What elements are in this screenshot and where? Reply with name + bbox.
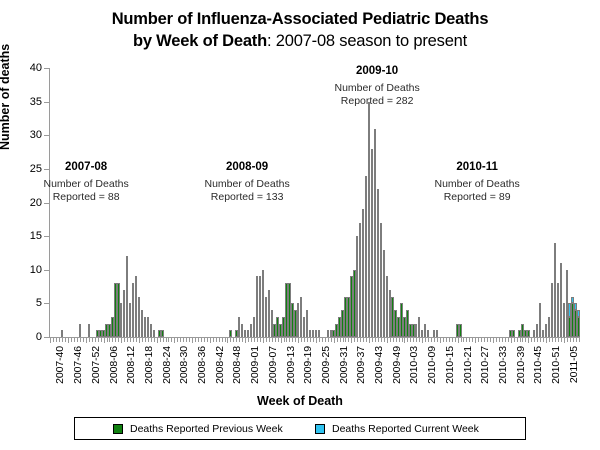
x-axis-tick-mark [219, 338, 220, 342]
x-axis-tick-mark [517, 338, 518, 342]
bar-segment-previous-week [88, 324, 90, 337]
x-axis-tick-mark [239, 338, 240, 342]
x-axis-tick-mark [422, 338, 423, 343]
bar-column [436, 330, 438, 337]
x-axis-tick-label: 2009-37 [355, 346, 367, 384]
x-axis-tick-mark [322, 338, 323, 342]
x-axis-tick-mark [186, 338, 187, 342]
x-axis-tick-mark [56, 338, 57, 342]
x-axis-tick-mark [59, 338, 60, 342]
x-axis-tick-mark [295, 338, 296, 342]
x-axis-tick-mark [481, 338, 482, 342]
y-axis-tick-mark [44, 236, 49, 237]
y-axis-tick-mark [44, 135, 49, 136]
x-axis-tick-mark [399, 338, 400, 342]
bar-column [61, 330, 63, 337]
x-axis-tick-mark [157, 338, 158, 343]
x-axis-tick-mark [343, 338, 344, 342]
x-axis-tick-mark [104, 338, 105, 343]
x-axis-tick-mark [555, 338, 556, 342]
x-axis-tick-mark [340, 338, 341, 342]
x-axis-tick-mark [168, 338, 169, 342]
x-axis-tick-mark [316, 338, 317, 343]
x-axis-tick-mark [404, 338, 405, 343]
bar-segment-current-week [566, 270, 568, 277]
bar-segment-previous-week [229, 330, 231, 337]
x-axis-tick-label: 2008-30 [178, 346, 190, 384]
x-axis-tick-mark [369, 338, 370, 343]
x-axis-tick-label: 2007-46 [72, 346, 84, 384]
x-axis-tick-mark [292, 338, 293, 342]
x-axis-tick-mark [151, 338, 152, 342]
x-axis-tick-mark [227, 338, 228, 343]
x-axis-tick-mark [396, 338, 397, 342]
x-axis-tick-mark [564, 338, 565, 343]
x-axis-tick-mark [301, 338, 302, 342]
x-axis-tick-mark [387, 338, 388, 343]
x-axis-tick-mark [304, 338, 305, 342]
x-axis-tick-mark [472, 338, 473, 342]
x-axis-tick-mark [522, 338, 523, 342]
x-axis-tick-mark [520, 338, 521, 342]
season-annotation-name: 2007-08 [44, 160, 129, 175]
x-axis-tick-mark [345, 338, 346, 342]
x-axis-tick-mark [145, 338, 146, 342]
x-axis-tick-mark [446, 338, 447, 342]
x-axis-tick-label: 2010-09 [426, 346, 438, 384]
bar-segment-current-week [560, 263, 562, 276]
y-axis-tick-mark [44, 68, 49, 69]
x-axis-tick-mark [531, 338, 532, 342]
bar-column [527, 330, 529, 337]
x-axis-tick-label: 2008-48 [231, 346, 243, 384]
x-axis-tick-mark [455, 338, 456, 342]
x-axis-tick-mark [195, 338, 196, 342]
x-axis-tick-mark [328, 338, 329, 342]
x-axis-tick-mark [543, 338, 544, 342]
x-axis-tick-mark [83, 338, 84, 342]
x-axis-tick-mark [275, 338, 276, 342]
x-axis-tick-label: 2008-36 [196, 346, 208, 384]
x-axis-tick-mark [198, 338, 199, 342]
x-axis-tick-label: 2009-13 [285, 346, 297, 384]
x-axis-tick-mark [375, 338, 376, 342]
x-axis-tick-mark [337, 338, 338, 342]
x-axis-tick-mark [171, 338, 172, 342]
x-axis-tick-mark [98, 338, 99, 342]
bar-column [79, 324, 81, 337]
x-axis-tick-mark [68, 338, 69, 343]
x-axis-tick-label: 2009-49 [391, 346, 403, 384]
x-axis-tick-mark [478, 338, 479, 342]
x-axis-tick-mark [579, 338, 580, 342]
y-axis-tick-label: 40 [30, 62, 42, 74]
x-axis-tick-mark [469, 338, 470, 342]
x-axis-tick-mark [222, 338, 223, 342]
x-axis-tick-mark [511, 338, 512, 343]
chart-title-line-2-bold: by Week of Death [133, 32, 267, 50]
season-annotation-name: 2008-09 [205, 160, 290, 175]
season-annotation-line-1: Number of Deaths [205, 178, 290, 191]
bar-segment-previous-week [79, 324, 81, 337]
x-axis-tick-mark [514, 338, 515, 342]
y-axis-tick-mark [44, 303, 49, 304]
x-axis-line [49, 337, 580, 338]
bar-segment-current-week [577, 310, 579, 317]
season-annotation-line-1: Number of Deaths [44, 178, 129, 191]
x-axis-tick-mark [310, 338, 311, 342]
x-axis-tick-mark [266, 338, 267, 342]
x-axis-tick-mark [115, 338, 116, 342]
x-axis-tick-mark [210, 338, 211, 343]
chart-title-line-1: Number of Influenza-Associated Pediatric… [0, 8, 600, 30]
x-axis-tick-mark [440, 338, 441, 343]
legend-item-label: Deaths Reported Previous Week [130, 423, 283, 435]
x-axis-tick-mark [139, 338, 140, 343]
x-axis-tick-mark [393, 338, 394, 342]
x-axis-tick-mark [71, 338, 72, 342]
x-axis-tick-mark [381, 338, 382, 342]
x-axis-tick-mark [127, 338, 128, 342]
x-axis-tick-mark [86, 338, 87, 343]
chart-title-line-2-rest: : 2007-08 season to present [267, 32, 467, 50]
bar-segment-previous-week [427, 330, 429, 337]
bar-column [153, 330, 155, 337]
x-axis-tick-label: 2010-15 [444, 346, 456, 384]
x-axis-tick-mark [546, 338, 547, 343]
x-axis-tick-mark [334, 338, 335, 343]
x-axis-tick-mark [508, 338, 509, 342]
x-axis-tick-mark [425, 338, 426, 342]
x-axis-tick-mark [402, 338, 403, 342]
x-axis-tick-mark [561, 338, 562, 342]
x-axis-tick-mark [242, 338, 243, 342]
x-axis-tick-mark [80, 338, 81, 342]
bar-segment-previous-week [512, 330, 514, 337]
x-axis-tick-mark [133, 338, 134, 342]
x-axis-tick-label: 2009-07 [267, 346, 279, 384]
season-annotation: 2009-10Number of DeathsReported = 282 [335, 64, 420, 109]
x-axis-tick-mark [101, 338, 102, 342]
x-axis-tick-label: 2010-27 [479, 346, 491, 384]
x-axis-tick-label: 2008-12 [125, 346, 137, 384]
x-axis-tick-mark [360, 338, 361, 342]
x-axis-tick-mark [378, 338, 379, 342]
x-axis-tick-mark [207, 338, 208, 342]
y-axis-tick-label: 25 [30, 163, 42, 175]
x-axis-tick-mark [449, 338, 450, 342]
x-axis-tick-mark [434, 338, 435, 342]
season-annotation: 2008-09Number of DeathsReported = 133 [205, 160, 290, 205]
x-axis-tick-mark [124, 338, 125, 342]
x-axis-tick-mark [260, 338, 261, 342]
y-axis-tick-label: 15 [30, 230, 42, 242]
x-axis-tick-mark [534, 338, 535, 342]
x-axis-tick-mark [236, 338, 237, 342]
x-axis-tick-mark [505, 338, 506, 342]
x-axis-tick-mark [180, 338, 181, 342]
x-axis-tick-mark [166, 338, 167, 342]
chart-legend: Deaths Reported Previous WeekDeaths Repo… [74, 417, 526, 440]
legend-item: Deaths Reported Current Week [315, 418, 479, 439]
x-axis-tick-mark [272, 338, 273, 342]
x-axis-tick-mark [463, 338, 464, 342]
legend-swatch-icon [113, 424, 123, 434]
x-axis-tick-mark [452, 338, 453, 342]
chart-title-line-2: by Week of Death: 2007-08 season to pres… [0, 30, 600, 52]
y-axis-title: Number of deaths [0, 44, 12, 150]
x-axis-tick-mark [189, 338, 190, 342]
x-axis-tick-mark [154, 338, 155, 342]
x-axis-tick-label: 2008-18 [143, 346, 155, 384]
bar-column [577, 310, 579, 337]
x-axis-tick-mark [549, 338, 550, 342]
x-axis-tick-mark [461, 338, 462, 342]
x-axis-tick-mark [225, 338, 226, 342]
x-axis-tick-mark [410, 338, 411, 342]
x-axis-tick-mark [307, 338, 308, 342]
x-axis-tick-mark [484, 338, 485, 342]
season-annotation: 2010-11Number of DeathsReported = 89 [435, 160, 520, 205]
season-annotation-line-2: Reported = 133 [205, 191, 290, 204]
x-axis-tick-mark [319, 338, 320, 342]
x-axis-tick-mark [298, 338, 299, 343]
y-axis-tick-label: 20 [30, 197, 42, 209]
legend-item: Deaths Reported Previous Week [113, 418, 283, 439]
x-axis-tick-mark [121, 338, 122, 343]
x-axis-tick-mark [576, 338, 577, 342]
bar-column [88, 324, 90, 337]
x-axis-tick-mark [201, 338, 202, 342]
x-axis-tick-mark [487, 338, 488, 342]
x-axis-tick-mark [502, 338, 503, 342]
x-axis-tick-mark [475, 338, 476, 343]
x-axis-title: Week of Death [0, 394, 600, 408]
x-axis-tick-mark [437, 338, 438, 342]
x-axis-tick-mark [537, 338, 538, 342]
chart-title: Number of Influenza-Associated Pediatric… [0, 8, 600, 53]
x-axis-tick-mark [74, 338, 75, 342]
y-axis-tick-label: 0 [36, 331, 42, 343]
season-annotation-line-1: Number of Deaths [335, 82, 420, 95]
bar-segment-previous-week [527, 330, 529, 337]
x-axis-tick-label: 2009-31 [338, 346, 350, 384]
x-axis-tick-mark [65, 338, 66, 342]
x-axis-tick-mark [348, 338, 349, 342]
x-axis-tick-label: 2010-33 [497, 346, 509, 384]
season-annotation-name: 2010-11 [435, 160, 520, 175]
x-axis-tick-mark [112, 338, 113, 342]
season-annotation-name: 2009-10 [335, 64, 420, 79]
legend-swatch-icon [315, 424, 325, 434]
x-axis-tick-mark [558, 338, 559, 342]
x-axis-tick-label: 2008-24 [161, 346, 173, 384]
x-axis-tick-mark [248, 338, 249, 342]
x-axis-tick-mark [407, 338, 408, 342]
x-axis-tick-mark [390, 338, 391, 342]
x-axis-tick-label: 2011-05 [568, 346, 580, 383]
x-axis-tick-mark [286, 338, 287, 342]
bar-segment-previous-week [577, 317, 579, 337]
x-axis-tick-label: 2009-43 [373, 346, 385, 384]
x-axis-tick-label: 2010-03 [408, 346, 420, 384]
x-axis-tick-mark [160, 338, 161, 342]
x-axis-tick-mark [331, 338, 332, 342]
x-axis-tick-mark [416, 338, 417, 342]
y-axis-tick-mark [44, 102, 49, 103]
x-axis-tick-mark [148, 338, 149, 342]
x-axis-tick-mark [163, 338, 164, 342]
x-axis-tick-mark [357, 338, 358, 342]
x-axis-tick-mark [192, 338, 193, 343]
x-axis-tick-mark [313, 338, 314, 342]
x-axis-tick-mark [490, 338, 491, 342]
bar-segment-previous-week [161, 330, 163, 337]
bar-column [427, 330, 429, 337]
bar-column [512, 330, 514, 337]
y-axis-tick-label: 35 [30, 96, 42, 108]
x-axis-tick-mark [552, 338, 553, 342]
x-axis-tick-mark [443, 338, 444, 342]
x-axis-tick-mark [142, 338, 143, 342]
bar-segment-current-week [554, 243, 556, 250]
x-axis-tick-mark [230, 338, 231, 342]
x-axis-tick-mark [254, 338, 255, 342]
x-axis-tick-label: 2009-25 [320, 346, 332, 384]
x-axis-tick-mark [499, 338, 500, 342]
x-axis-tick-mark [528, 338, 529, 343]
x-axis-tick-mark [428, 338, 429, 342]
x-axis-tick-mark [354, 338, 355, 342]
x-axis-tick-label: 2009-19 [302, 346, 314, 384]
x-axis-tick-label: 2008-06 [108, 346, 120, 384]
x-axis-tick-mark [573, 338, 574, 342]
y-axis-tick-mark [44, 270, 49, 271]
x-axis-tick-mark [233, 338, 234, 342]
legend-item-label: Deaths Reported Current Week [332, 423, 479, 435]
x-axis-tick-mark [216, 338, 217, 342]
x-axis-tick-mark [351, 338, 352, 343]
x-axis-tick-mark [363, 338, 364, 342]
season-annotation-line-2: Reported = 89 [435, 191, 520, 204]
x-axis-tick-mark [213, 338, 214, 342]
x-axis-tick-mark [174, 338, 175, 343]
x-axis-tick-label: 2010-39 [515, 346, 527, 384]
y-axis-tick-label: 5 [36, 297, 42, 309]
x-axis-tick-mark [245, 338, 246, 343]
x-axis-tick-mark [118, 338, 119, 342]
x-axis-tick-mark [431, 338, 432, 342]
y-axis-tick-mark [44, 337, 49, 338]
bar-segment-current-week [571, 297, 573, 304]
x-axis-tick-mark [77, 338, 78, 342]
x-axis-tick-mark [493, 338, 494, 343]
x-axis-tick-mark [130, 338, 131, 342]
x-axis-tick-mark [62, 338, 63, 342]
x-axis-tick-mark [53, 338, 54, 342]
y-axis-tick-label: 10 [30, 264, 42, 276]
x-axis-tick-mark [281, 338, 282, 343]
x-axis-tick-mark [413, 338, 414, 342]
x-axis-tick-label: 2010-51 [550, 346, 562, 384]
season-annotation-line-1: Number of Deaths [435, 178, 520, 191]
x-axis-tick-label: 2009-01 [249, 346, 261, 384]
x-axis-tick-label: 2007-52 [90, 346, 102, 384]
bar-segment-current-week [574, 303, 576, 310]
x-axis-tick-mark [366, 338, 367, 342]
x-axis-tick-mark [372, 338, 373, 342]
season-annotation: 2007-08Number of DeathsReported = 88 [44, 160, 129, 205]
x-axis-tick-mark [567, 338, 568, 342]
x-axis-tick-mark [263, 338, 264, 343]
x-axis-tick-label: 2008-42 [214, 346, 226, 384]
x-axis-tick-mark [458, 338, 459, 343]
x-axis-tick-mark [570, 338, 571, 342]
x-axis-tick-mark [251, 338, 252, 342]
x-axis-tick-mark [269, 338, 270, 342]
influenza-pediatric-deaths-chart: Number of Influenza-Associated Pediatric… [0, 0, 600, 450]
x-axis-tick-mark [109, 338, 110, 342]
x-axis-tick-mark [284, 338, 285, 342]
x-axis-tick-mark [496, 338, 497, 342]
x-axis-tick-mark [466, 338, 467, 342]
season-annotation-line-2: Reported = 88 [44, 191, 129, 204]
x-axis-tick-mark [204, 338, 205, 342]
season-annotation-line-2: Reported = 282 [335, 95, 420, 108]
x-axis-tick-mark [183, 338, 184, 342]
bar-segment-previous-week [153, 330, 155, 337]
x-axis-tick-mark [95, 338, 96, 342]
x-axis-tick-mark [525, 338, 526, 342]
x-axis-tick-label: 2010-45 [532, 346, 544, 384]
bar-segment-previous-week [436, 330, 438, 337]
x-axis-tick-label: 2007-40 [54, 346, 66, 384]
x-axis-tick-mark [325, 338, 326, 342]
x-axis-tick-mark [257, 338, 258, 342]
x-axis-tick-mark [92, 338, 93, 342]
bar-segment-previous-week [61, 330, 63, 337]
x-axis-tick-mark [107, 338, 108, 342]
x-axis-tick-label: 2010-21 [462, 346, 474, 384]
x-axis-tick-mark [89, 338, 90, 342]
x-axis-tick-mark [540, 338, 541, 342]
bar-column [229, 330, 231, 337]
x-axis-tick-mark [136, 338, 137, 342]
bar-segment-previous-week [318, 330, 320, 337]
bar-column [318, 330, 320, 337]
bar-column [459, 324, 461, 337]
x-axis-tick-mark [384, 338, 385, 342]
bar-segment-previous-week [459, 324, 461, 337]
x-axis-tick-mark [177, 338, 178, 342]
x-axis-tick-mark [50, 338, 51, 343]
x-axis-tick-mark [419, 338, 420, 342]
y-axis-tick-label: 30 [30, 129, 42, 141]
x-axis-tick-mark [289, 338, 290, 342]
bar-column [161, 330, 163, 337]
x-axis-tick-mark [278, 338, 279, 342]
